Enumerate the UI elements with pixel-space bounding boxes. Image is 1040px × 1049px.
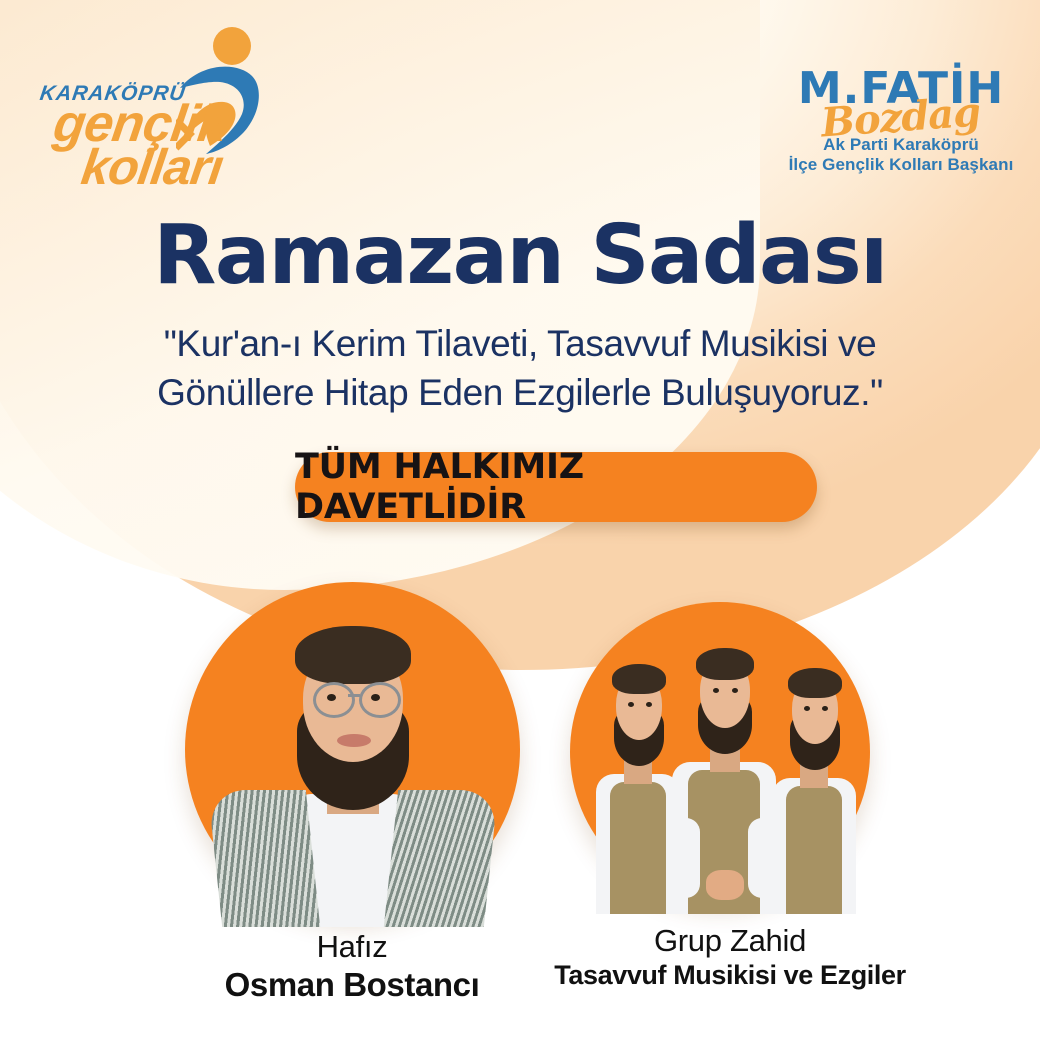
subtitle-line-1: "Kur'an-ı Kerim Tilaveti, Tasavvuf Musik… bbox=[0, 320, 1040, 369]
performer-caption-grup-zahid: Grup Zahid Tasavvuf Musikisi ve Ezgiler bbox=[520, 922, 940, 992]
page-title: Ramazan Sadası bbox=[0, 208, 1040, 303]
invitation-banner: TÜM HALKIMIZ DAVETLİDİR bbox=[295, 452, 817, 522]
performer-role: Hafız bbox=[152, 928, 552, 965]
karakopru-youth-logo: KARAKÖPRÜ gençlik kolları bbox=[34, 26, 274, 176]
performer-caption-hafiz: Hafız Osman Bostancı bbox=[152, 928, 552, 1005]
subtitle-line-2: Gönüllere Hitap Eden Ezgilerle Buluşuyor… bbox=[0, 369, 1040, 418]
performer-role: Grup Zahid bbox=[520, 922, 940, 959]
performer-name: Tasavvuf Musikisi ve Ezgiler bbox=[520, 959, 940, 992]
logo-line-kollari: kolları bbox=[78, 138, 226, 196]
performer-name: Osman Bostancı bbox=[152, 965, 552, 1005]
politician-title-line1: Ak Parti Karaköprü bbox=[776, 135, 1026, 155]
invitation-banner-label: TÜM HALKIMIZ DAVETLİDİR bbox=[295, 447, 817, 527]
performer-photo-grup-zahid bbox=[570, 602, 870, 914]
performer-photo-osman-bostanci bbox=[185, 582, 520, 927]
subtitle: "Kur'an-ı Kerim Tilaveti, Tasavvuf Musik… bbox=[0, 320, 1040, 418]
mfatih-bozdag-logo: M.FATİH Bozdag Ak Parti Karaköprü İlçe G… bbox=[776, 68, 1026, 188]
politician-title-line2: İlçe Gençlik Kolları Başkanı bbox=[776, 155, 1026, 175]
event-poster: KARAKÖPRÜ gençlik kolları M.FATİH Bozdag… bbox=[0, 0, 1040, 1049]
